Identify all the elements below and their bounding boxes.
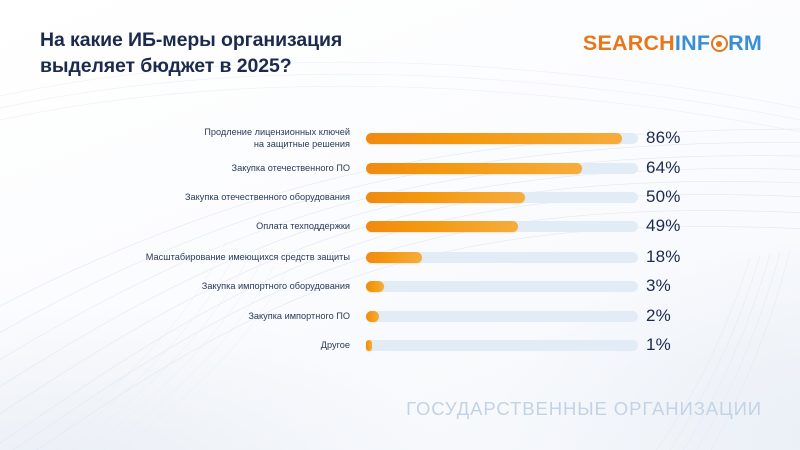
bar-track xyxy=(366,163,638,174)
bar-fill xyxy=(366,252,422,263)
bar-value: 2% xyxy=(646,306,716,326)
bar-label: Продление лицензионных ключей на защитны… xyxy=(40,126,350,151)
bar-track xyxy=(366,252,638,263)
page-title-line-2: выделяет бюджет в 2025? xyxy=(40,54,460,80)
bar-fill xyxy=(366,221,518,232)
bar-fill xyxy=(366,340,372,351)
chart-row: Закупка импортного оборудования 3% xyxy=(0,274,800,298)
target-o-icon xyxy=(711,35,728,52)
bar-value: 50% xyxy=(646,187,716,207)
bar-fill xyxy=(366,163,582,174)
bar-label: Закупка импортного ПО xyxy=(40,310,350,322)
searchinform-logo: SEARCHINFRM xyxy=(583,33,762,55)
bar-label: Оплата техподдержки xyxy=(40,220,350,232)
bar-label: Закупка отечественного оборудования xyxy=(40,191,350,203)
bar-value: 1% xyxy=(646,335,716,355)
bar-label: Другое xyxy=(40,339,350,351)
bar-fill xyxy=(366,281,384,292)
chart-row: Другое 1% xyxy=(0,333,800,357)
bar-value: 3% xyxy=(646,276,716,296)
footer-segment-label: ГОСУДАРСТВЕННЫЕ ОРГАНИЗАЦИИ xyxy=(406,398,762,420)
bar-value: 49% xyxy=(646,216,716,236)
page-title: На какие ИБ-меры организация выделяет бю… xyxy=(40,28,460,80)
bar-value: 86% xyxy=(646,128,716,148)
bar-value: 64% xyxy=(646,158,716,178)
bar-fill xyxy=(366,133,622,144)
bar-fill xyxy=(366,192,525,203)
logo-text-search: SEARCH xyxy=(583,33,675,55)
chart-row: Оплата техподдержки 49% xyxy=(0,214,800,238)
bar-value: 18% xyxy=(646,247,716,267)
chart-row: Закупка отечественного оборудования 50% xyxy=(0,185,800,209)
bar-track xyxy=(366,281,638,292)
chart-row: Продление лицензионных ключей на защитны… xyxy=(0,126,800,150)
bar-track xyxy=(366,192,638,203)
logo-text-inf: INF xyxy=(675,33,710,55)
chart-row: Закупка импортного ПО 2% xyxy=(0,304,800,328)
logo-text-rm: RM xyxy=(728,33,762,55)
bar-track xyxy=(366,340,638,351)
bar-track xyxy=(366,311,638,322)
bar-fill xyxy=(366,311,379,322)
bar-track xyxy=(366,221,638,232)
horizontal-bar-chart: Продление лицензионных ключей на защитны… xyxy=(0,118,800,363)
bar-track xyxy=(366,133,638,144)
page-title-line-1: На какие ИБ-меры организация xyxy=(40,28,460,54)
bar-label: Закупка импортного оборудования xyxy=(40,280,350,292)
bar-label: Масштабирование имеющихся средств защиты xyxy=(40,251,350,263)
chart-row: Закупка отечественного ПО 64% xyxy=(0,156,800,180)
bar-label: Закупка отечественного ПО xyxy=(40,162,350,174)
chart-row: Масштабирование имеющихся средств защиты… xyxy=(0,245,800,269)
slide-root: На какие ИБ-меры организация выделяет бю… xyxy=(0,0,800,450)
